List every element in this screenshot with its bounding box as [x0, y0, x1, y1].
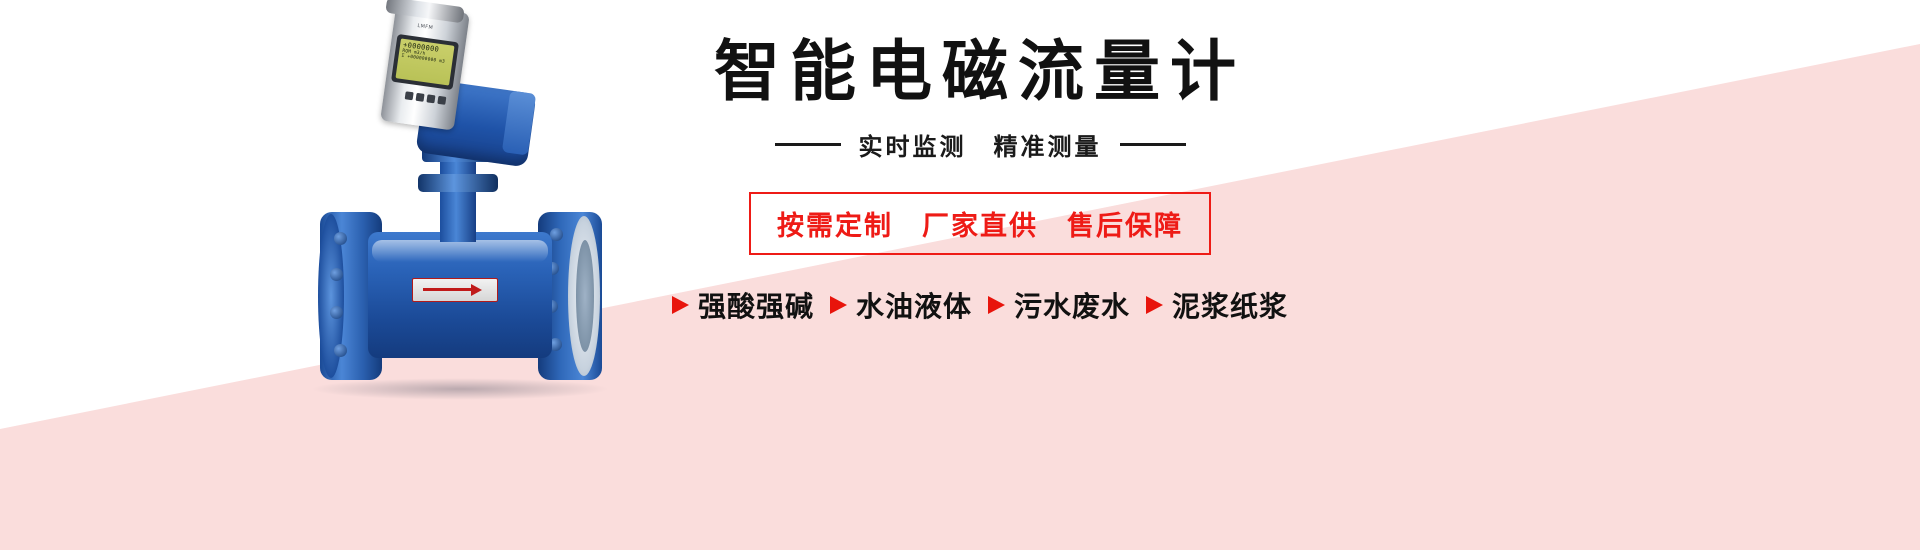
neck-flange-lower	[418, 174, 498, 192]
flow-direction-arrow-plate	[412, 278, 498, 302]
feature-list: 强酸强碱 水油液体 污水废水 泥浆纸浆	[600, 285, 1360, 325]
meter-neck	[440, 150, 476, 242]
triangle-right-icon	[672, 296, 689, 314]
feature-label: 污水废水	[1014, 285, 1130, 325]
triangle-right-icon	[1146, 296, 1163, 314]
rule-right	[1120, 143, 1186, 146]
banner-content: 智能电磁流量计 实时监测 精准测量 按需定制 厂家直供 售后保障 强酸强碱 水油…	[600, 36, 1360, 325]
feature-label: 泥浆纸浆	[1172, 285, 1288, 325]
keypad-button	[415, 93, 424, 102]
highlight-box: 按需定制 厂家直供 售后保障	[749, 192, 1211, 255]
feature-item: 水油液体	[830, 285, 972, 325]
banner-subtitle: 实时监测 精准测量	[859, 127, 1102, 162]
keypad-button	[404, 91, 413, 100]
triangle-right-icon	[830, 296, 847, 314]
flange-bolt	[330, 306, 343, 319]
rule-left	[775, 143, 841, 146]
lcd-display: +0000000 RQM m3/h Σ +000000000 m3	[395, 38, 454, 85]
banner-subtitle-row: 实时监测 精准测量	[600, 127, 1360, 162]
flange-bolt	[330, 268, 343, 281]
triangle-right-icon	[988, 296, 1005, 314]
feature-label: 强酸强碱	[698, 285, 814, 325]
product-shadow	[310, 378, 610, 400]
feature-label: 水油液体	[856, 285, 972, 325]
right-flange-bore	[576, 240, 594, 352]
product-banner: LMFM +0000000 RQM m3/h Σ +000000000 m3 智…	[0, 0, 1920, 550]
feature-item: 泥浆纸浆	[1146, 285, 1288, 325]
flange-bolt	[550, 228, 563, 241]
feature-item: 强酸强碱	[672, 285, 814, 325]
flange-bolt	[334, 232, 347, 245]
banner-title: 智能电磁流量计	[600, 36, 1360, 109]
flange-bolt	[334, 344, 347, 357]
keypad-button	[426, 94, 435, 103]
feature-item: 污水废水	[988, 285, 1130, 325]
keypad-button	[437, 96, 446, 105]
meter-body-highlight	[372, 240, 548, 262]
highlight-box-text: 按需定制 厂家直供 售后保障	[777, 211, 1183, 242]
